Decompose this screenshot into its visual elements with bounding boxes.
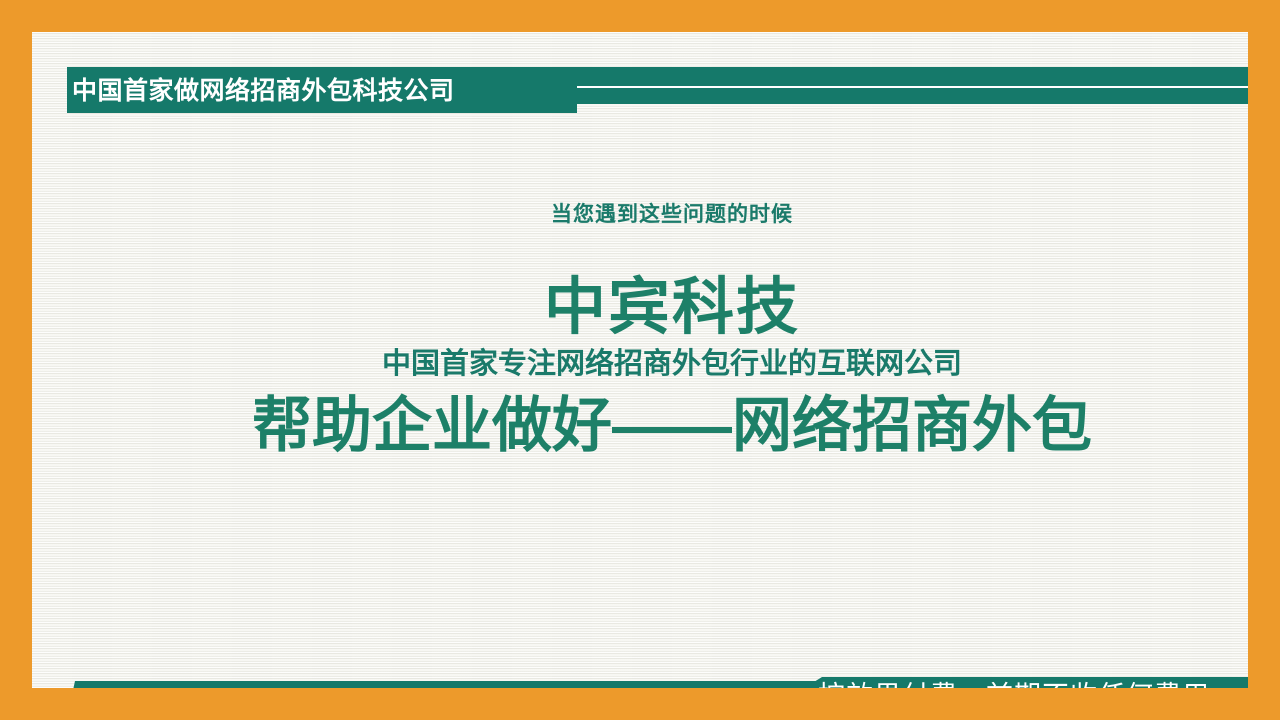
header-title: 中国首家做网络招商外包科技公司 [72, 71, 542, 111]
eyebrow-text: 当您遇到这些问题的时候 [32, 198, 1248, 228]
main-headline: 帮助企业做好——网络招商外包 [32, 393, 1248, 459]
footer-tagline: 按效果付费，前期不收任何费用 [818, 677, 1210, 688]
slide-canvas: 中国首家做网络招商外包科技公司 当您遇到这些问题的时候 中宾科技 中国首家专注网… [32, 32, 1248, 688]
brand-title: 中宾科技 [32, 275, 1248, 340]
brand-subline: 中国首家专注网络招商外包行业的互联网公司 [32, 349, 1248, 381]
header-hairline [577, 86, 1248, 88]
slide-root: 中国首家做网络招商外包科技公司 当您遇到这些问题的时候 中宾科技 中国首家专注网… [0, 0, 1280, 720]
